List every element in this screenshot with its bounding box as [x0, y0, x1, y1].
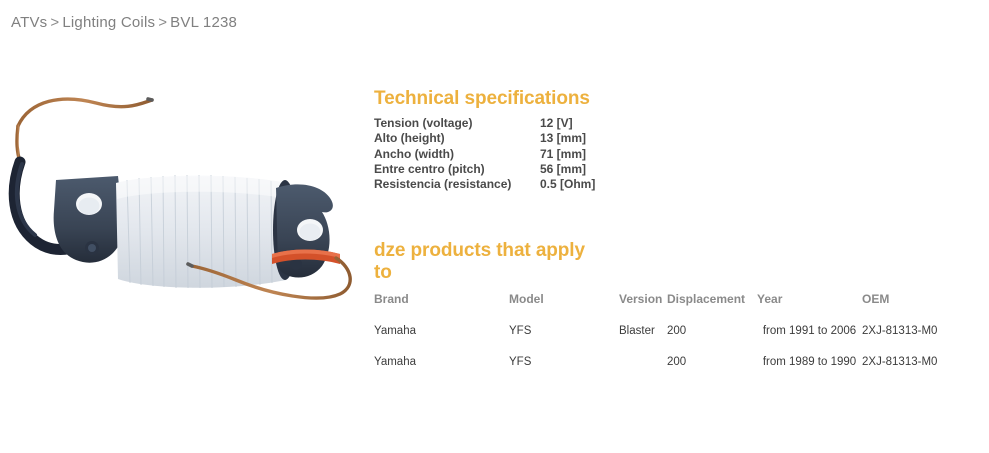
table-header-row: Brand Model Version Displacement Year OE…: [374, 292, 959, 316]
spec-value-alto: 13 [mm]: [540, 131, 598, 146]
left-mounting-hole-inner: [79, 198, 100, 215]
spec-label-alto: Alto (height): [374, 131, 540, 146]
product-image: [0, 72, 362, 302]
cell-year: from 1991 to 2006: [757, 316, 862, 347]
table-row: Yamaha YFS Blaster 200 from 1991 to 2006…: [374, 316, 959, 347]
cell-brand: Yamaha: [374, 347, 509, 378]
specs-heading: Technical specifications: [374, 88, 614, 110]
compatible-products-table: Brand Model Version Displacement Year OE…: [374, 292, 959, 378]
breadcrumb: ATVs>Lighting Coils>BVL 1238: [11, 14, 237, 31]
cell-model: YFS: [509, 347, 619, 378]
spec-label-tension: Tension (voltage): [374, 116, 540, 131]
right-mounting-hole-inner: [300, 224, 321, 241]
wire-terminal-tip-top: [148, 99, 152, 100]
cell-oem: 2XJ-81313-M0: [862, 316, 959, 347]
spec-label-entre-centro: Entre centro (pitch): [374, 162, 540, 177]
left-bracket-rivet-center: [88, 244, 96, 252]
column-header-oem: OEM: [862, 292, 959, 316]
products-heading: dze products that apply to: [374, 240, 602, 284]
breadcrumb-item-lighting-coils[interactable]: Lighting Coils: [62, 14, 155, 31]
column-header-brand: Brand: [374, 292, 509, 316]
spec-value-tension: 12 [V]: [540, 116, 598, 131]
column-header-model: Model: [509, 292, 619, 316]
cell-version: [619, 347, 667, 378]
spec-value-entre-centro: 56 [mm]: [540, 162, 598, 177]
column-header-year: Year: [757, 292, 862, 316]
spec-label-resistencia: Resistencia (resistance): [374, 177, 540, 192]
wire-terminal-tip-bottom: [188, 264, 192, 266]
copper-lead-wire-top: [18, 99, 152, 126]
compatible-products-section: dze products that apply to Brand Model V…: [374, 240, 974, 378]
technical-specifications-section: Technical specifications Tension (voltag…: [374, 88, 614, 193]
breadcrumb-item-atvs[interactable]: ATVs: [11, 14, 47, 31]
table-row: Yamaha YFS 200 from 1989 to 1990 2XJ-813…: [374, 347, 959, 378]
lighting-coil-illustration: [0, 72, 362, 302]
cell-brand: Yamaha: [374, 316, 509, 347]
column-header-version: Version: [619, 292, 667, 316]
breadcrumb-item-bvl-1238: BVL 1238: [170, 14, 237, 31]
cell-displacement: 200: [667, 347, 757, 378]
cell-displacement: 200: [667, 316, 757, 347]
spec-row: Alto (height) 13 [mm]: [374, 131, 598, 146]
cell-version: Blaster: [619, 316, 667, 347]
spec-label-ancho: Ancho (width): [374, 147, 540, 162]
breadcrumb-separator: >: [47, 14, 62, 31]
cell-oem: 2XJ-81313-M0: [862, 347, 959, 378]
spec-row: Entre centro (pitch) 56 [mm]: [374, 162, 598, 177]
cell-year: from 1989 to 1990: [757, 347, 862, 378]
spec-row: Resistencia (resistance) 0.5 [Ohm]: [374, 177, 598, 192]
cell-model: YFS: [509, 316, 619, 347]
spec-value-resistencia: 0.5 [Ohm]: [540, 177, 598, 192]
specs-table: Tension (voltage) 12 [V] Alto (height) 1…: [374, 116, 598, 193]
spec-row: Ancho (width) 71 [mm]: [374, 147, 598, 162]
breadcrumb-separator: >: [155, 14, 170, 31]
spec-value-ancho: 71 [mm]: [540, 147, 598, 162]
spec-row: Tension (voltage) 12 [V]: [374, 116, 598, 131]
column-header-displacement: Displacement: [667, 292, 757, 316]
